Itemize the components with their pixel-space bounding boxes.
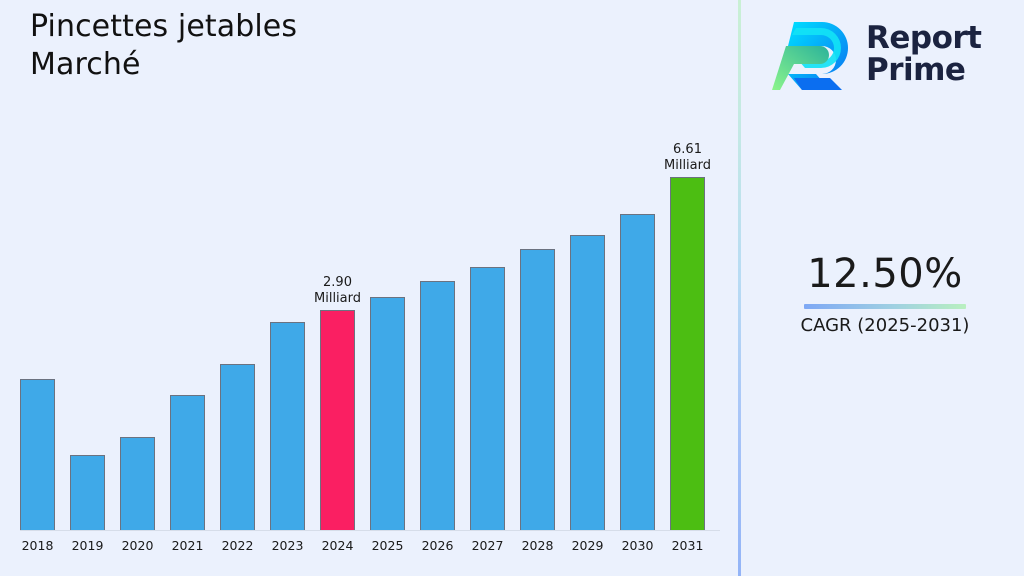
bar-2026[interactable] [420,281,455,530]
bar-slot [70,0,105,530]
bar-2023[interactable] [270,322,305,530]
bar-slot [470,0,505,530]
bar-2018[interactable] [20,379,55,530]
bar-slot [420,0,455,530]
bar-slot: 2.90 Milliard [320,0,355,530]
cagr-block: 12.50% CAGR (2025-2031) [760,252,1010,336]
bar-slot: 6.61 Milliard [670,0,705,530]
brand-wordmark: Report Prime [866,22,982,86]
bar-slot [270,0,305,530]
report-prime-r-mark-icon [772,16,854,92]
bar-2024[interactable] [320,310,355,530]
bar-2028[interactable] [520,249,555,530]
cagr-value: 12.50% [760,252,1010,296]
bar-slot [20,0,55,530]
bar-2022[interactable] [220,364,255,530]
panel-divider [738,0,741,576]
bar-2019[interactable] [70,455,105,530]
brand-logo: Report Prime [772,8,1012,100]
chart-area: 2018201920202021202220232.90 Milliard202… [0,0,738,576]
bar-2020[interactable] [120,437,155,530]
bar-2029[interactable] [570,235,605,530]
bar-2021[interactable] [170,395,205,530]
bar-2030[interactable] [620,214,655,530]
bar-value-label-2031: 6.61 Milliard [633,142,743,174]
cagr-caption: CAGR (2025-2031) [760,315,1010,336]
bar-slot [370,0,405,530]
bar-2025[interactable] [370,297,405,530]
bar-slot [120,0,155,530]
bar-2027[interactable] [470,267,505,530]
bar-2031[interactable] [670,177,705,530]
x-tick-2031: 2031 [658,538,718,553]
bar-slot [570,0,605,530]
bar-slot [170,0,205,530]
bar-slot [520,0,555,530]
cagr-divider-rule [804,304,966,309]
bar-slot [220,0,255,530]
bar-slot [620,0,655,530]
x-axis-baseline [20,530,720,531]
